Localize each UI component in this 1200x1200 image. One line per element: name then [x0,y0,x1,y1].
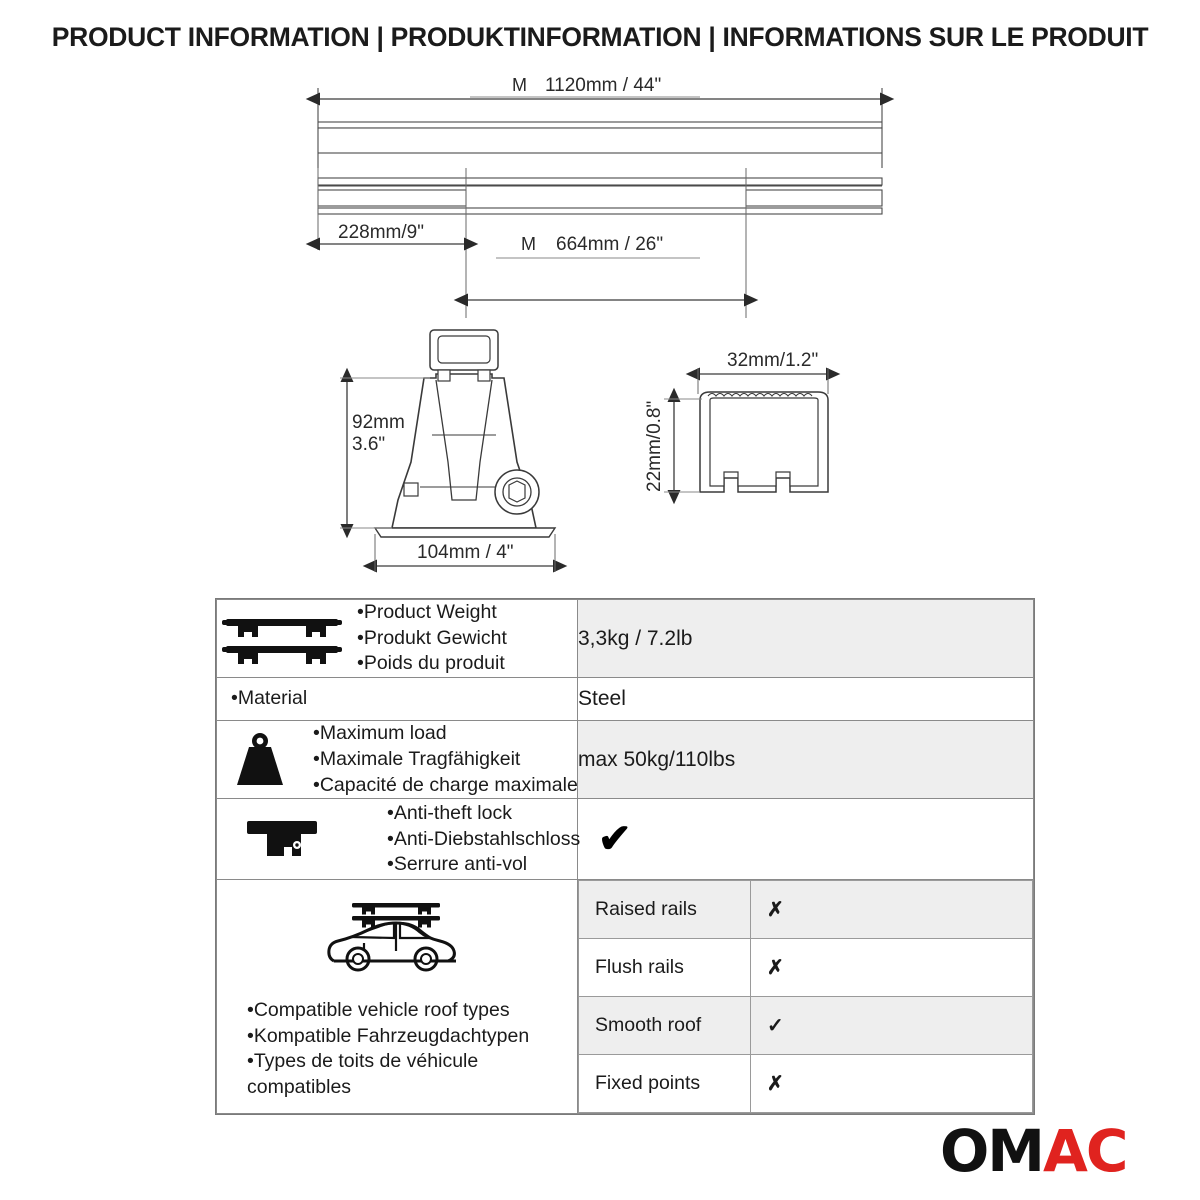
logo-text-red: AC [1043,1117,1126,1185]
roof-row-flush-rails: Flush rails ✗ [579,939,1033,997]
roof-types-table-cell: Raised rails ✗ Flush rails ✗ [578,880,1034,1114]
table-row-roof-types: •Compatible vehicle roof types •Kompatib… [217,880,1034,1114]
weight-icon [217,729,303,791]
spec-label-cell: •Material [217,678,578,721]
bar-spread-label: 664mm / 26" [556,234,663,255]
table-row: •Product Weight •Produkt Gewicht •Poids … [217,600,1034,678]
spec-label-en: •Product Weight [357,600,577,626]
spec-label-en: •Anti-theft lock [387,801,580,827]
check-icon: ✓ [767,1015,784,1037]
bar-bottom-view [318,178,882,214]
roof-mark-raised-rails: ✗ [751,881,1033,939]
car-with-racks-icon [322,899,472,982]
logo-text-dark: OM [940,1117,1043,1185]
spec-label-texts: •Material [217,686,577,712]
bar-length-label: 1120mm / 44" [545,75,661,96]
foot-width-label: 104mm / 4" [417,542,514,563]
foot-offset-label: 228mm/9" [338,222,424,243]
cross-icon: ✗ [767,1073,784,1095]
spec-label-cell: •Maximum load •Maximale Tragfähigkeit •C… [217,721,578,799]
lock-icon [217,817,347,861]
roof-types-label-cell: •Compatible vehicle roof types •Kompatib… [217,880,578,1114]
roof-label-de: •Kompatible Fahrzeugdachtypen [247,1024,529,1050]
profile-height-dimension [664,399,702,492]
spec-value-max-load: max 50kg/110lbs [578,721,1034,799]
roof-name-fixed-points: Fixed points [579,1055,751,1113]
roof-name-smooth-roof: Smooth roof [579,997,751,1055]
spec-label-de: •Produkt Gewicht [357,626,577,652]
crossbars-icon [217,611,347,667]
spec-label-fr: •Serrure anti-vol [387,852,580,878]
spec-value-anti-theft: ✔ [578,799,1034,880]
spec-label-fr: •Poids du produit [357,651,577,677]
roof-mark-fixed-points: ✗ [751,1055,1033,1113]
spec-label-de: •Anti-Diebstahlschloss [387,827,580,853]
foot-height-label-2: 3.6" [352,434,385,455]
spec-label-texts: •Maximum load •Maximale Tragfähigkeit •C… [313,721,578,798]
spec-label-de: •Maximale Tragfähigkeit [313,747,578,773]
bar-spread-marker: M [521,234,536,254]
profile-width-label: 32mm/1.2" [727,350,818,371]
omac-logo: OMAC [940,1122,1126,1180]
roof-row-smooth-roof: Smooth roof ✓ [579,997,1033,1055]
profile-height-label: 22mm/0.8" [644,401,665,492]
cross-icon: ✗ [767,899,784,921]
table-row: •Maximum load •Maximale Tragfähigkeit •C… [217,721,1034,799]
roof-types-texts: •Compatible vehicle roof types •Kompatib… [217,998,529,1101]
table-row: •Anti-theft lock •Anti-Diebstahlschloss … [217,799,1034,880]
spec-label-material: •Material [231,686,577,712]
roof-name-raised-rails: Raised rails [579,881,751,939]
bar-top-view [318,122,882,153]
roof-row-fixed-points: Fixed points ✗ [579,1055,1033,1113]
spec-label-cell: •Anti-theft lock •Anti-Diebstahlschloss … [217,799,578,880]
specification-table: •Product Weight •Produkt Gewicht •Poids … [215,598,1035,1115]
roof-mark-flush-rails: ✗ [751,939,1033,997]
spec-label-fr: •Capacité de charge maximale [313,773,578,799]
spec-label-cell: •Product Weight •Produkt Gewicht •Poids … [217,600,578,678]
table-row: •Material Steel [217,678,1034,721]
roof-types-table: Raised rails ✗ Flush rails ✗ [578,880,1033,1113]
roof-row-raised-rails: Raised rails ✗ [579,881,1033,939]
spec-label-texts: •Product Weight •Produkt Gewicht •Poids … [357,600,577,677]
technical-drawing-area: M 1120mm / 44" 228mm/9" M 664mm / 26" [0,0,1200,600]
roof-label-fr: •Types de toits de véhicule [247,1049,529,1075]
foot-front-view [375,330,555,537]
check-icon: ✔ [578,817,632,861]
profile-width-dimension [698,368,828,394]
profile-cross-section [700,392,828,492]
roof-label-fr-cont: compatibles [247,1075,529,1101]
product-information-page: PRODUCT INFORMATION | PRODUKTINFORMATION… [0,0,1200,1200]
spec-value-material: Steel [578,678,1034,721]
foot-height-label-1: 92mm [352,412,405,433]
spec-label-texts: •Anti-theft lock •Anti-Diebstahlschloss … [357,801,580,878]
spec-value-weight: 3,3kg / 7.2lb [578,600,1034,678]
cross-icon: ✗ [767,957,784,979]
spec-label-en: •Maximum load [313,721,578,747]
roof-name-flush-rails: Flush rails [579,939,751,997]
roof-label-en: •Compatible vehicle roof types [247,998,529,1024]
bar-length-marker: M [512,75,527,95]
roof-mark-smooth-roof: ✓ [751,997,1033,1055]
